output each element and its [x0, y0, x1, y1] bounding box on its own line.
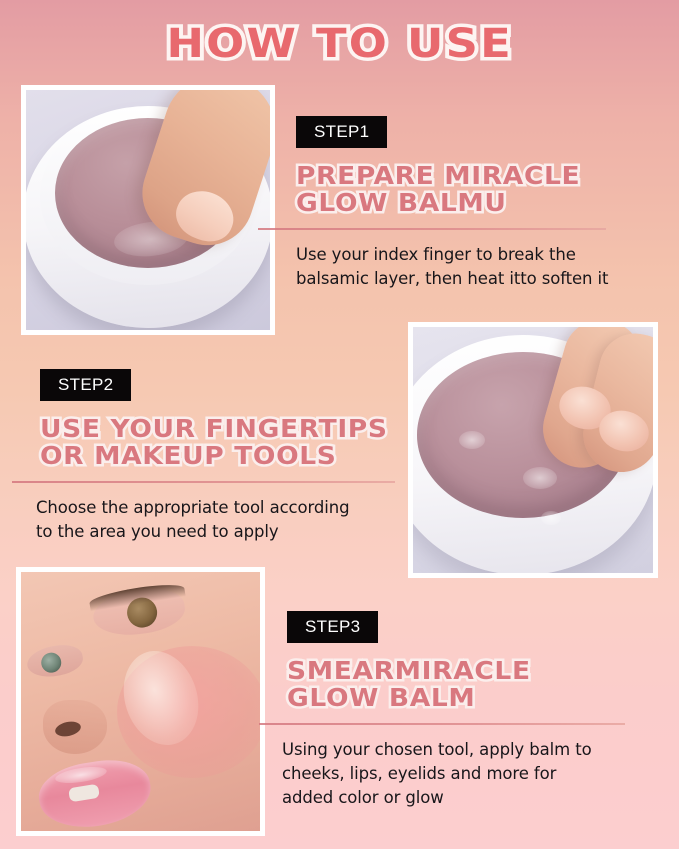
step-3-photo [16, 567, 265, 836]
step-2-photo-inner [413, 327, 653, 573]
iris [40, 651, 63, 674]
step-1-divider [258, 228, 606, 230]
balm-highlight [459, 431, 485, 449]
step-3-badge: STEP3 [287, 611, 378, 643]
step-2-divider [12, 481, 395, 483]
step-1-photo [21, 85, 275, 335]
step-2-heading: USE YOUR FINGERTIPS OR MAKEUP TOOLS [40, 415, 443, 469]
page-title: HOW TO USE [166, 22, 512, 66]
step-1-photo-inner [26, 90, 270, 330]
step-3-heading: SMEARMIRACLE GLOW BALM [287, 657, 679, 711]
step-3-photo-inner [21, 572, 260, 831]
step-2-badge: STEP2 [40, 369, 131, 401]
step-2-block: STEP2 USE YOUR FINGERTIPS OR MAKEUP TOOL… [40, 369, 420, 544]
step-1-body: Use your index finger to break the balsa… [296, 243, 666, 291]
step-2-body: Choose the appropriate tool according to… [36, 496, 420, 544]
step-3-divider [259, 723, 625, 725]
balm-highlight [523, 467, 557, 489]
how-to-use-infographic: HOW TO USE [0, 0, 679, 849]
balm-highlight [541, 511, 561, 525]
page-title-container: HOW TO USE [0, 22, 679, 66]
step-1-block: STEP1 PREPARE MIRACLE GLOW BALMU Use you… [296, 116, 666, 291]
step-1-heading: PREPARE MIRACLE GLOW BALMU [296, 162, 679, 216]
step-3-body: Using your chosen tool, apply balm to ch… [282, 738, 667, 810]
step-2-photo [408, 322, 658, 578]
step-1-badge: STEP1 [296, 116, 387, 148]
step-3-block: STEP3 SMEARMIRACLE GLOW BALM Using your … [287, 611, 667, 810]
